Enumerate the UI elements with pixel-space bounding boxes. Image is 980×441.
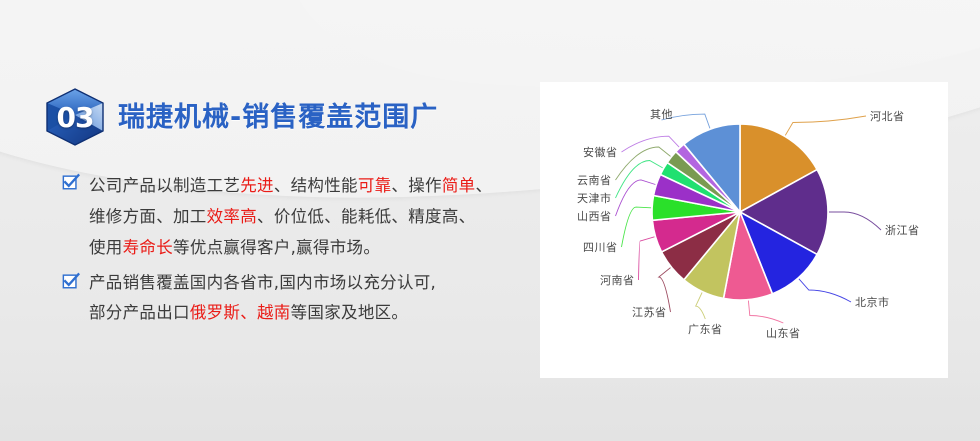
pie-label-leader-line <box>799 279 851 302</box>
highlighted-text: 效率高 <box>207 207 257 226</box>
section-number-label: 03 <box>44 88 106 146</box>
section-number-badge: 03 <box>44 88 106 146</box>
checkbox-checked-icon <box>62 173 80 191</box>
pie-slice-label: 河南省 <box>600 272 635 288</box>
chart-panel: 河北省浙江省北京市山东省广东省江苏省河南省四川省山西省天津市云南省安徽省其他 <box>540 82 948 378</box>
plain-text: 产品销售覆盖国内各省市,国内市场以充分认可, <box>89 273 436 292</box>
bullet-line: 维修方面、加工效率高、价位低、能耗低、精度高、 <box>89 201 492 232</box>
bullet-line: 使用寿命长等优点赢得客户,赢得市场。 <box>89 232 492 263</box>
pie-slice-label: 北京市 <box>855 294 890 310</box>
plain-text: 部分产品出口 <box>89 303 190 322</box>
highlighted-text: 俄罗斯、越南 <box>190 303 291 322</box>
pie-slice-label: 河北省 <box>870 108 905 124</box>
plain-text: 等优点赢得客户,赢得市场。 <box>173 238 380 257</box>
pie-slice-label: 云南省 <box>577 172 612 188</box>
plain-text: 维修方面、加工 <box>89 207 207 226</box>
highlighted-text: 先进 <box>240 176 274 195</box>
section-title: 瑞捷机械-销售覆盖范围广 <box>118 104 438 131</box>
bullet-text: 产品销售覆盖国内各省市,国内市场以充分认可,部分产品出口俄罗斯、越南等国家及地区… <box>89 268 436 328</box>
bullet-text: 公司产品以制造工艺先进、结构性能可靠、操作简单、维修方面、加工效率高、价位低、能… <box>89 170 492 263</box>
pie-slice-label: 安徽省 <box>583 144 618 160</box>
bullet-item: 公司产品以制造工艺先进、结构性能可靠、操作简单、维修方面、加工效率高、价位低、能… <box>62 170 492 263</box>
bullet-line: 公司产品以制造工艺先进、结构性能可靠、操作简单、 <box>89 170 492 201</box>
plain-text: 、操作 <box>391 176 441 195</box>
checkbox-checked-icon <box>62 272 80 290</box>
pie-slice-label: 山东省 <box>766 325 801 341</box>
pie-slice-label: 广东省 <box>688 321 723 337</box>
plain-text: 公司产品以制造工艺 <box>89 176 240 195</box>
pie-label-leader-line <box>639 237 655 280</box>
pie-slice-label: 天津市 <box>577 190 612 206</box>
pie-slice-label: 其他 <box>650 106 673 122</box>
plain-text: 、结构性能 <box>274 176 358 195</box>
pie-label-leader-line <box>622 207 652 247</box>
plain-text: 、 <box>475 176 492 195</box>
pie-label-leader-line <box>748 301 783 323</box>
highlighted-text: 可靠 <box>358 176 392 195</box>
pie-slice-label: 四川省 <box>583 239 618 255</box>
pie-label-leader-line <box>622 136 680 152</box>
pie-slice-label: 江苏省 <box>632 304 667 320</box>
plain-text: 、价位低、能耗低、精度高、 <box>257 207 475 226</box>
bullet-line: 部分产品出口俄罗斯、越南等国家及地区。 <box>89 298 436 328</box>
pie-slice-label: 浙江省 <box>885 222 920 238</box>
pie-label-leader-line <box>829 212 881 230</box>
pie-label-leader-line <box>696 293 706 320</box>
pie-slice-label: 山西省 <box>577 208 612 224</box>
bullet-item: 产品销售覆盖国内各省市,国内市场以充分认可,部分产品出口俄罗斯、越南等国家及地区… <box>62 268 436 328</box>
pie-label-leader-line <box>785 116 866 135</box>
plain-text: 等国家及地区。 <box>291 303 409 322</box>
highlighted-text: 简单 <box>442 176 476 195</box>
bullet-line: 产品销售覆盖国内各省市,国内市场以充分认可, <box>89 268 436 298</box>
highlighted-text: 寿命长 <box>123 238 173 257</box>
plain-text: 使用 <box>89 238 123 257</box>
section-headline: 03 瑞捷机械-销售覆盖范围广 <box>44 88 438 146</box>
content-column: 03 瑞捷机械-销售覆盖范围广 公司产品以制造工艺先进、结构性能可靠、操作简单、… <box>0 0 540 441</box>
